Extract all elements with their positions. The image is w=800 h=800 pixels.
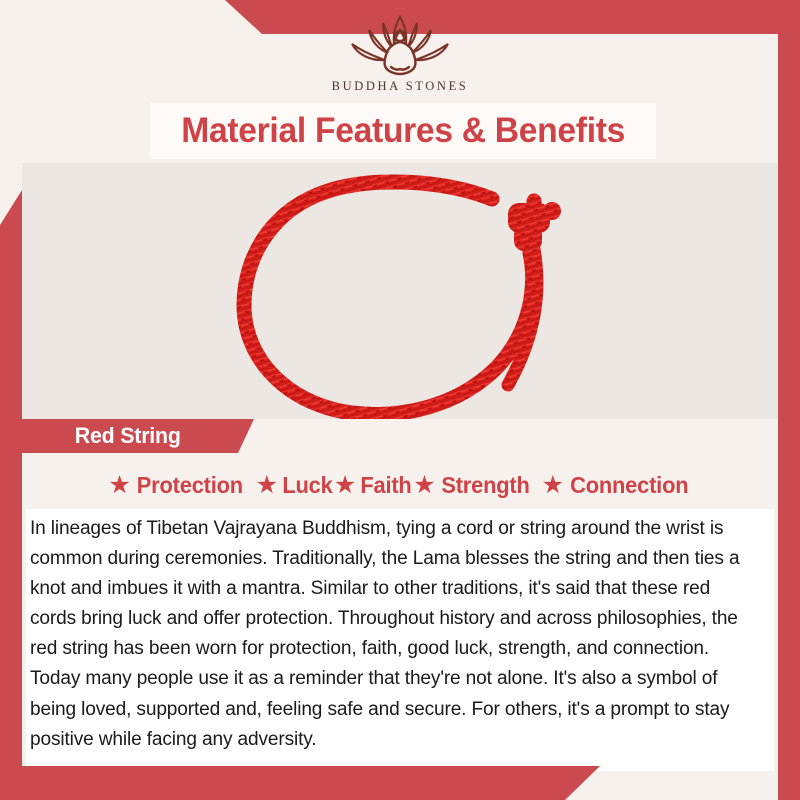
brand-name: BUDDHA STONES — [332, 79, 469, 94]
product-name: Red String — [19, 423, 181, 449]
star-icon: ★ — [108, 473, 130, 498]
frame-bottom-accent — [0, 766, 800, 800]
feature-item-strength: ★ Strength — [413, 472, 531, 499]
feature-item-connection: ★ Connection — [542, 472, 692, 499]
star-icon: ★ — [542, 473, 564, 498]
feature-item-protection: ★ Protection — [108, 472, 245, 499]
lotus-meditation-icon — [325, 8, 475, 78]
feature-item-luck: ★ Luck — [256, 472, 334, 499]
infographic-page: BUDDHA STONES Material Features & Benefi… — [0, 0, 800, 800]
star-icon: ★ — [334, 473, 356, 498]
description-text: In lineages of Tibetan Vajrayana Buddhis… — [30, 513, 744, 754]
star-icon: ★ — [256, 473, 278, 498]
title-banner: Material Features & Benefits — [150, 103, 656, 159]
product-name-banner: Red String — [16, 419, 254, 453]
frame-right-accent — [778, 0, 800, 800]
feature-label: Connection — [570, 472, 688, 499]
product-photo — [22, 163, 778, 419]
description-card: In lineages of Tibetan Vajrayana Buddhis… — [26, 509, 774, 771]
feature-label: Protection — [137, 472, 243, 499]
feature-label: Strength — [441, 472, 529, 499]
page-title: Material Features & Benefits — [181, 111, 625, 151]
feature-label: Luck — [282, 472, 332, 499]
feature-item-faith: ★ Faith — [334, 472, 413, 499]
red-braided-cord-bracelet — [22, 163, 778, 419]
star-icon: ★ — [413, 473, 435, 498]
brand-logo: BUDDHA STONES — [0, 8, 800, 103]
feature-list: ★ Protection ★ Luck ★ Faith ★ Strength ★… — [22, 463, 778, 507]
feature-label: Faith — [361, 472, 412, 499]
frame-left-accent — [0, 0, 22, 800]
